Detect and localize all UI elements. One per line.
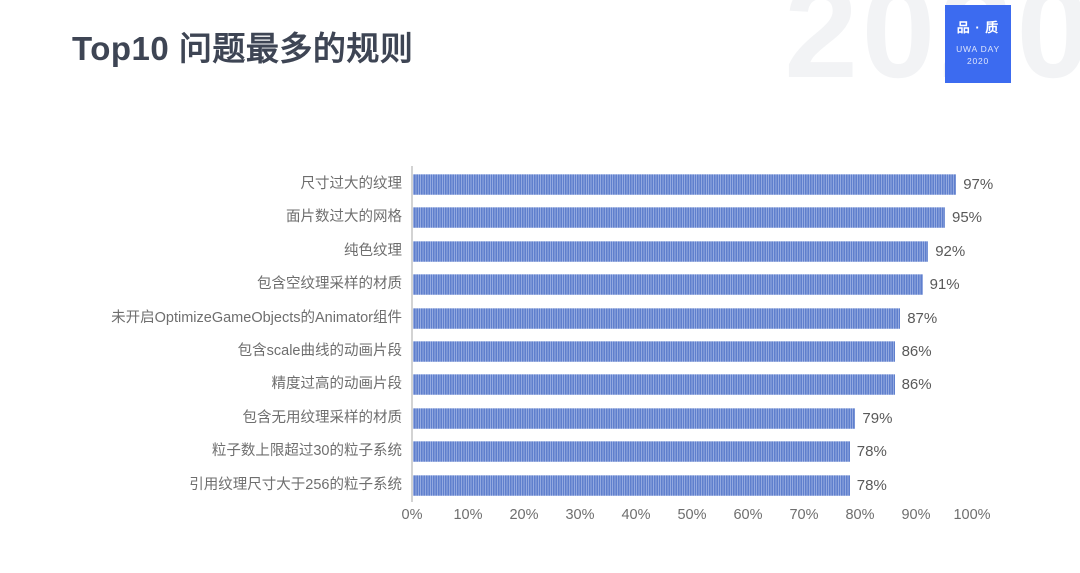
bar-row: 精度过高的动画片段86% [0, 368, 1080, 401]
x-axis-tick-labels: 0%10%20%30%40%50%60%70%80%90%100% [0, 507, 1080, 533]
bar-container [413, 341, 895, 362]
slide-header: 2020 Top10 问题最多的规则 品 · 质 UWA DAY 2020 [0, 0, 1080, 100]
bar-row: 包含空纹理采样的材质91% [0, 268, 1080, 301]
bar-container [413, 241, 928, 262]
bar[interactable] [413, 374, 895, 395]
bar-container [413, 174, 956, 195]
category-label: 未开启OptimizeGameObjects的Animator组件 [111, 302, 402, 335]
badge-event-name: UWA DAY [956, 43, 1000, 55]
bar-container [413, 374, 895, 395]
bar-value-label: 97% [956, 168, 993, 201]
x-axis-tick: 10% [453, 507, 482, 523]
bar-chart: 尺寸过大的纹理97%面片数过大的网格95%纯色纹理92%包含空纹理采样的材质91… [0, 155, 1080, 535]
category-label: 包含scale曲线的动画片段 [238, 335, 402, 368]
badge-year: 2020 [967, 55, 989, 67]
x-axis-tick: 60% [733, 507, 762, 523]
x-axis-tick: 20% [509, 507, 538, 523]
bar-container [413, 441, 850, 462]
year-watermark: 2020 [784, 0, 1080, 98]
bar-value-label: 78% [850, 469, 887, 502]
category-label: 包含空纹理采样的材质 [257, 268, 402, 301]
bar[interactable] [413, 308, 900, 329]
category-label: 精度过高的动画片段 [272, 368, 403, 401]
bar-row: 未开启OptimizeGameObjects的Animator组件87% [0, 302, 1080, 335]
bar-value-label: 78% [850, 435, 887, 468]
bar-value-label: 91% [923, 268, 960, 301]
bar-value-label: 95% [945, 201, 982, 234]
x-axis-tick: 70% [789, 507, 818, 523]
bar[interactable] [413, 241, 928, 262]
x-axis-tick: 50% [677, 507, 706, 523]
bar-rows: 尺寸过大的纹理97%面片数过大的网格95%纯色纹理92%包含空纹理采样的材质91… [0, 168, 1080, 502]
bar[interactable] [413, 274, 923, 295]
x-axis-tick: 0% [402, 507, 423, 523]
bar-container [413, 274, 923, 295]
bar-value-label: 92% [928, 235, 965, 268]
bar-container [413, 408, 855, 429]
bar[interactable] [413, 475, 850, 496]
bar-row: 包含scale曲线的动画片段86% [0, 335, 1080, 368]
category-label: 包含无用纹理采样的材质 [243, 402, 403, 435]
bar[interactable] [413, 341, 895, 362]
bar-row: 面片数过大的网格95% [0, 201, 1080, 234]
category-label: 引用纹理尺寸大于256的粒子系统 [189, 469, 402, 502]
bar-value-label: 86% [895, 335, 932, 368]
category-label: 纯色纹理 [344, 235, 402, 268]
x-axis-tick: 90% [901, 507, 930, 523]
bar-row: 尺寸过大的纹理97% [0, 168, 1080, 201]
bar-value-label: 87% [900, 302, 937, 335]
bar[interactable] [413, 174, 956, 195]
page-title: Top10 问题最多的规则 [72, 22, 413, 70]
bar-row: 粒子数上限超过30的粒子系统78% [0, 435, 1080, 468]
bar-row: 包含无用纹理采样的材质79% [0, 402, 1080, 435]
x-axis-tick: 30% [565, 507, 594, 523]
bar-value-label: 86% [895, 368, 932, 401]
bar[interactable] [413, 408, 855, 429]
x-axis-tick: 100% [953, 507, 990, 523]
category-label: 粒子数上限超过30的粒子系统 [212, 435, 402, 468]
x-axis-tick: 40% [621, 507, 650, 523]
bar-container [413, 475, 850, 496]
x-axis-tick: 80% [845, 507, 874, 523]
bar-container [413, 308, 900, 329]
badge-chinese-label: 品 · 质 [957, 21, 1000, 34]
bar-row: 引用纹理尺寸大于256的粒子系统78% [0, 469, 1080, 502]
brand-badge: 品 · 质 UWA DAY 2020 [945, 5, 1011, 83]
bar[interactable] [413, 441, 850, 462]
bar-row: 纯色纹理92% [0, 235, 1080, 268]
category-label: 尺寸过大的纹理 [301, 168, 403, 201]
bar-container [413, 207, 945, 228]
bar[interactable] [413, 207, 945, 228]
bar-value-label: 79% [855, 402, 892, 435]
category-label: 面片数过大的网格 [286, 201, 402, 234]
